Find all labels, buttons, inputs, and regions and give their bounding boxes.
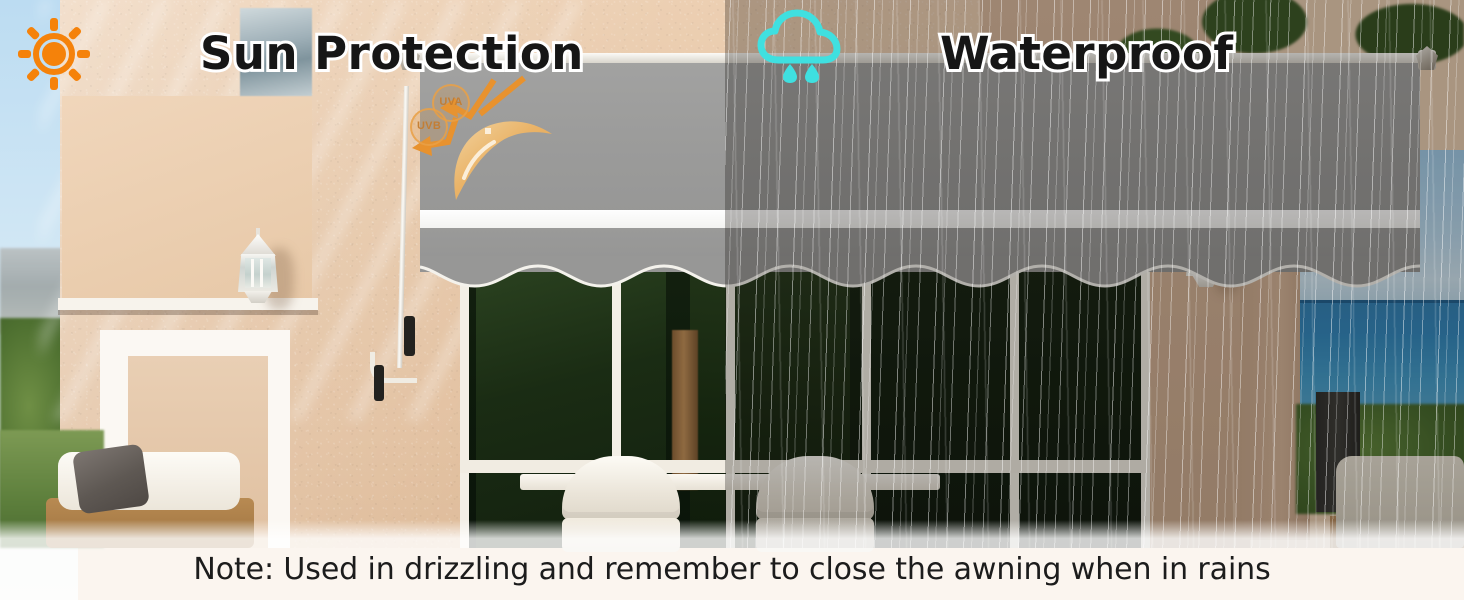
product-feature-banner: UVA UVB Sun Protection Waterproof xyxy=(0,0,1464,600)
lantern-bar xyxy=(260,259,263,287)
uvb-badge: UVB xyxy=(410,108,448,146)
uv-deflector-crescent xyxy=(454,121,552,200)
rain-cloud-icon xyxy=(756,8,844,84)
raindrops xyxy=(783,64,819,83)
lantern-cap xyxy=(240,234,276,256)
lantern-bar xyxy=(251,259,254,287)
deflector-sparkle xyxy=(485,128,491,134)
awning-crank-handle[interactable] xyxy=(374,365,384,401)
note-bar-fade xyxy=(0,520,1464,538)
waterproof-heading: Waterproof xyxy=(940,27,1233,80)
note-bar: Note: Used in drizzling and remember to … xyxy=(0,538,1464,600)
chair-back xyxy=(562,456,680,520)
lantern-glass xyxy=(245,258,271,288)
sun-protection-heading: Sun Protection xyxy=(200,27,584,80)
window-sill-shadow xyxy=(58,310,318,315)
wall-lantern-left xyxy=(232,228,284,308)
note-text: Note: Used in drizzling and remember to … xyxy=(193,552,1270,587)
sun-icon xyxy=(18,18,90,90)
awning-crank-grip-upper[interactable] xyxy=(404,316,415,356)
sofa-pillow-left xyxy=(72,443,150,514)
uv-protection-graphic: UVA UVB xyxy=(406,72,586,208)
